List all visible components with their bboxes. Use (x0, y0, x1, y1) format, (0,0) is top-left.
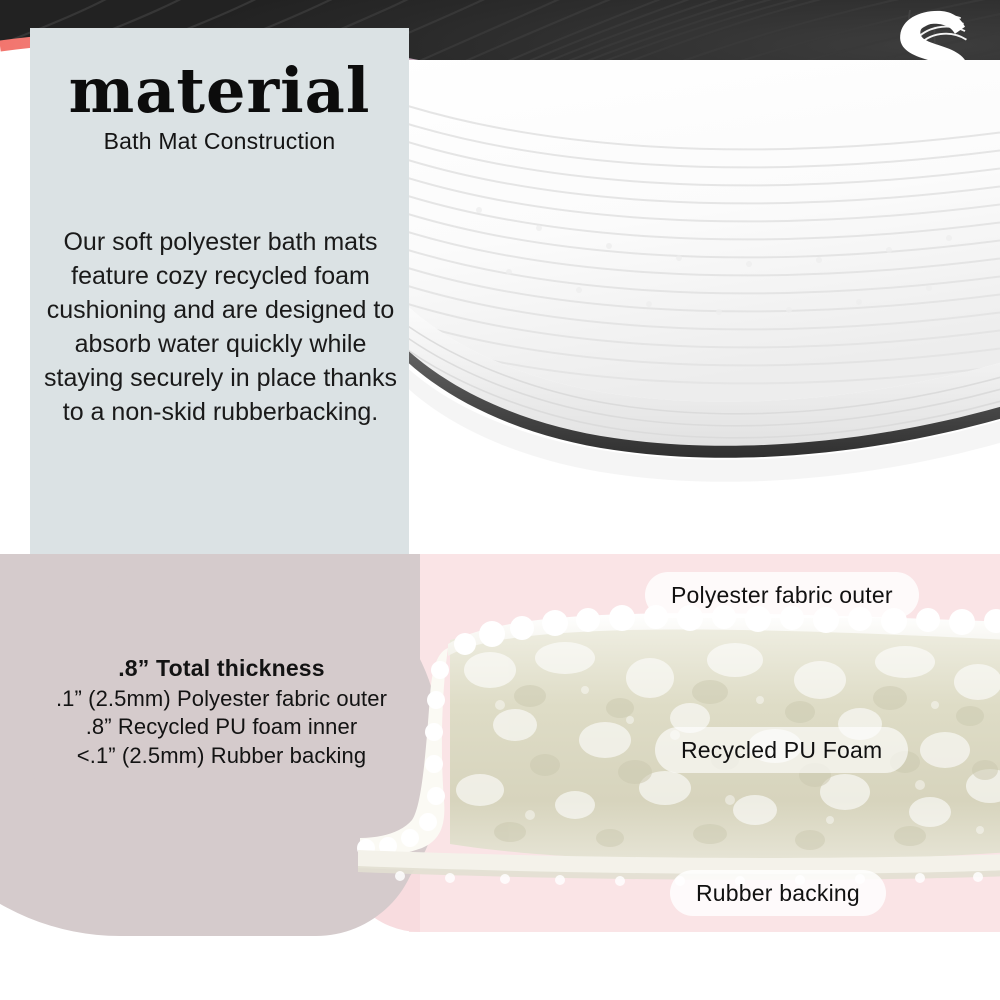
spec-block: .8” Total thickness .1” (2.5mm) Polyeste… (34, 655, 409, 770)
mat-top-face (409, 60, 1000, 402)
mat-corner-illustration (409, 60, 1000, 554)
spec-line-foam: .8” Recycled PU foam inner (34, 713, 409, 741)
callout-polyester-fabric-outer: Polyester fabric outer (645, 572, 919, 618)
spec-line-fabric: .1” (2.5mm) Polyester fabric outer (34, 685, 409, 713)
spec-line-rubber: <.1” (2.5mm) Rubber backing (34, 742, 409, 770)
mat-corner-photo (409, 60, 1000, 554)
callout-rubber-backing: Rubber backing (670, 870, 886, 916)
spec-heading: .8” Total thickness (34, 655, 409, 682)
callout-recycled-pu-foam: Recycled PU Foam (655, 727, 908, 773)
page-subtitle: Bath Mat Construction (30, 128, 409, 155)
intro-paragraph: Our soft polyester bath mats feature coz… (38, 225, 403, 429)
infographic-canvas: material Bath Mat Construction Our soft … (0, 0, 1000, 1000)
header-block: material Bath Mat Construction (30, 60, 409, 155)
page-title: material (30, 60, 409, 122)
